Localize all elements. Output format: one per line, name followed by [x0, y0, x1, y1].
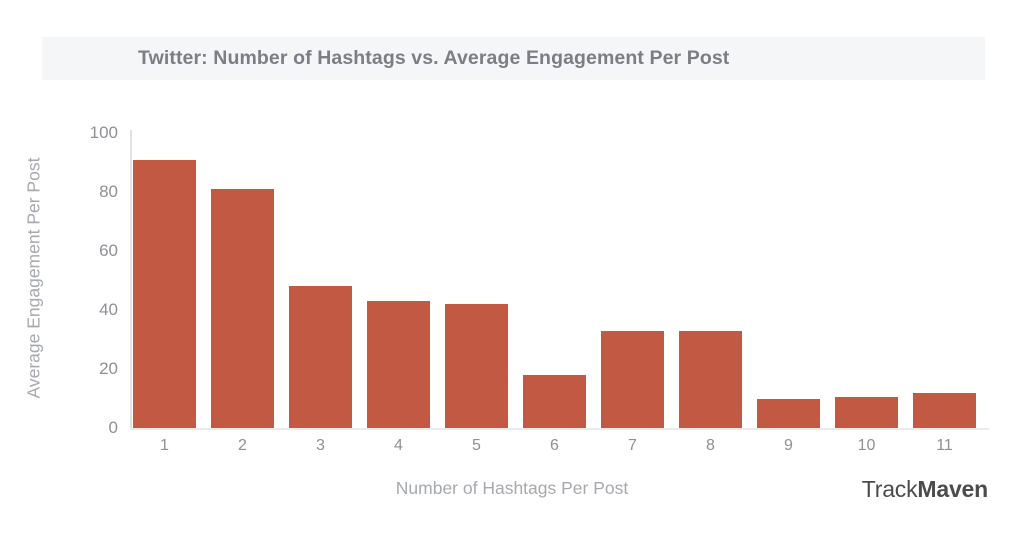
- x-tick-label: 7: [601, 437, 664, 455]
- x-tick-label: 10: [835, 437, 898, 455]
- bar: [679, 331, 742, 428]
- bar: [835, 397, 898, 428]
- x-tick-label: 6: [523, 437, 586, 455]
- bar: [913, 393, 976, 428]
- bar: [523, 375, 586, 428]
- chart-title: Twitter: Number of Hashtags vs. Average …: [138, 47, 729, 70]
- brand-name-bold: Maven: [917, 476, 988, 502]
- trackmaven-logo: TrackMaven: [862, 476, 988, 503]
- bar: [601, 331, 664, 428]
- bar: [133, 160, 196, 428]
- x-tick-label: 1: [133, 437, 196, 455]
- chart-container: Twitter: Number of Hashtags vs. Average …: [0, 0, 1024, 537]
- x-tick-label: 8: [679, 437, 742, 455]
- bar: [757, 399, 820, 429]
- x-tick-label: 9: [757, 437, 820, 455]
- x-tick-label: 4: [367, 437, 430, 455]
- x-axis-spine: [130, 428, 989, 430]
- bar: [211, 189, 274, 428]
- x-tick-label: 2: [211, 437, 274, 455]
- y-tick-label: 20: [78, 359, 118, 379]
- brand-name-light: Track: [862, 476, 918, 502]
- y-tick-label: 80: [78, 182, 118, 202]
- chart-title-banner: Twitter: Number of Hashtags vs. Average …: [42, 37, 985, 80]
- y-axis-title: Average Engagement Per Post: [24, 159, 45, 399]
- y-tick-label: 100: [78, 123, 118, 143]
- y-tick-label: 60: [78, 241, 118, 261]
- y-axis-tick-labels: 020406080100: [62, 133, 118, 428]
- bar: [367, 301, 430, 428]
- x-tick-label: 5: [445, 437, 508, 455]
- y-tick-label: 40: [78, 300, 118, 320]
- x-tick-label: 11: [913, 437, 976, 455]
- y-tick-label: 0: [78, 418, 118, 438]
- bar: [445, 304, 508, 428]
- x-tick-label: 3: [289, 437, 352, 455]
- plot-area: [133, 133, 989, 428]
- x-axis-tick-labels: 1234567891011: [133, 437, 989, 463]
- y-axis-spine: [130, 130, 132, 429]
- bar: [289, 286, 352, 428]
